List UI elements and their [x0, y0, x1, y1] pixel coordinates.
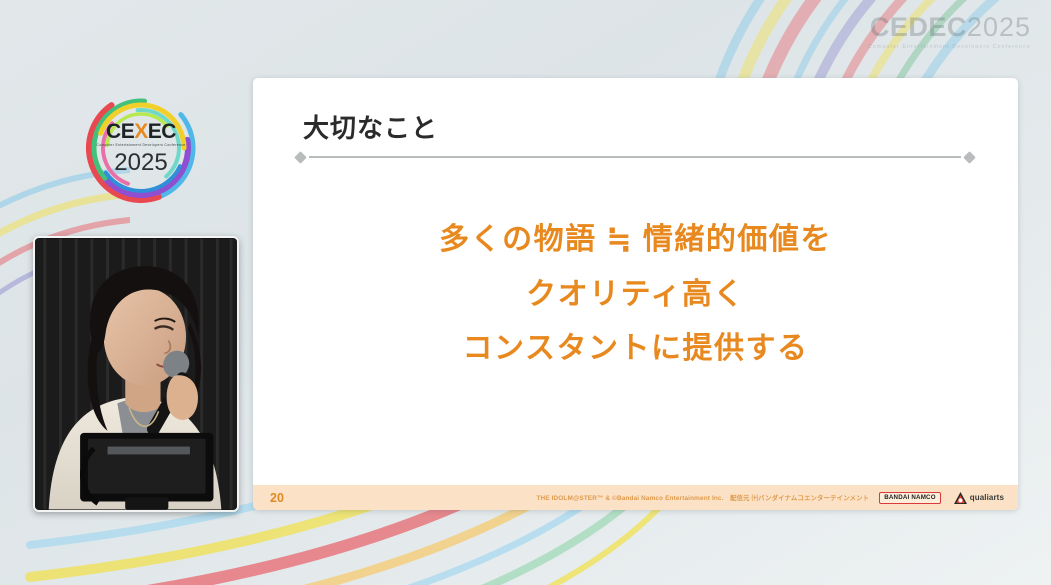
cedec-badge-year: 2025	[114, 151, 167, 175]
slide-title: 大切なこと	[303, 108, 438, 145]
speaker-photo	[35, 238, 237, 510]
qualiarts-logo: qualiarts	[954, 492, 1004, 504]
qualiarts-triangle-icon	[954, 492, 967, 504]
slide-body-line-2: クオリティ高く	[253, 268, 1018, 323]
cedec-badge-mark-left: CE	[106, 120, 134, 143]
speaker-video-thumbnail[interactable]	[33, 236, 239, 512]
cedec-watermark-logo: CEDEC2025 Computer Entertainment Develop…	[868, 14, 1031, 50]
cedec-watermark-mark: CEDEC	[870, 12, 967, 42]
diamond-left-icon	[294, 151, 307, 164]
slide-body-line-1: 多くの物語 ≒ 情緒的価値を	[253, 213, 1018, 268]
diamond-right-icon	[963, 151, 976, 164]
slide-body-line-3: コンスタントに提供する	[253, 322, 1018, 377]
copyright-notice: THE IDOLM@STER™ & ©Bandai Namco Entertai…	[284, 493, 879, 502]
divider-line	[309, 156, 961, 158]
presentation-slide: 大切なこと 多くの物語 ≒ 情緒的価値を クオリティ高く コンスタントに提供する…	[253, 78, 1018, 510]
slide-body: 多くの物語 ≒ 情緒的価値を クオリティ高く コンスタントに提供する	[253, 213, 1018, 377]
cedec-watermark-year: 2025	[967, 12, 1031, 42]
slide-footer: 20 THE IDOLM@STER™ & ©Bandai Namco Enter…	[253, 485, 1018, 510]
title-divider	[296, 151, 974, 163]
presentation-screen: CEDEC2025 Computer Entertainment Develop…	[0, 0, 1051, 585]
cedec-badge-subtitle: Computer Entertainment Developers Confer…	[97, 144, 186, 147]
page-number: 20	[270, 491, 284, 505]
cedec-badge-mark-right: EC	[148, 120, 176, 143]
cedec-circular-logo: CEXEC Computer Entertainment Developers …	[82, 92, 200, 204]
cedec-badge-mark-x: X	[134, 120, 148, 143]
bandai-namco-logo: BANDAI NAMCO	[879, 492, 941, 504]
qualiarts-logo-text: qualiarts	[970, 493, 1004, 502]
cedec-watermark-subtitle: Computer Entertainment Developers Confer…	[868, 44, 1031, 50]
